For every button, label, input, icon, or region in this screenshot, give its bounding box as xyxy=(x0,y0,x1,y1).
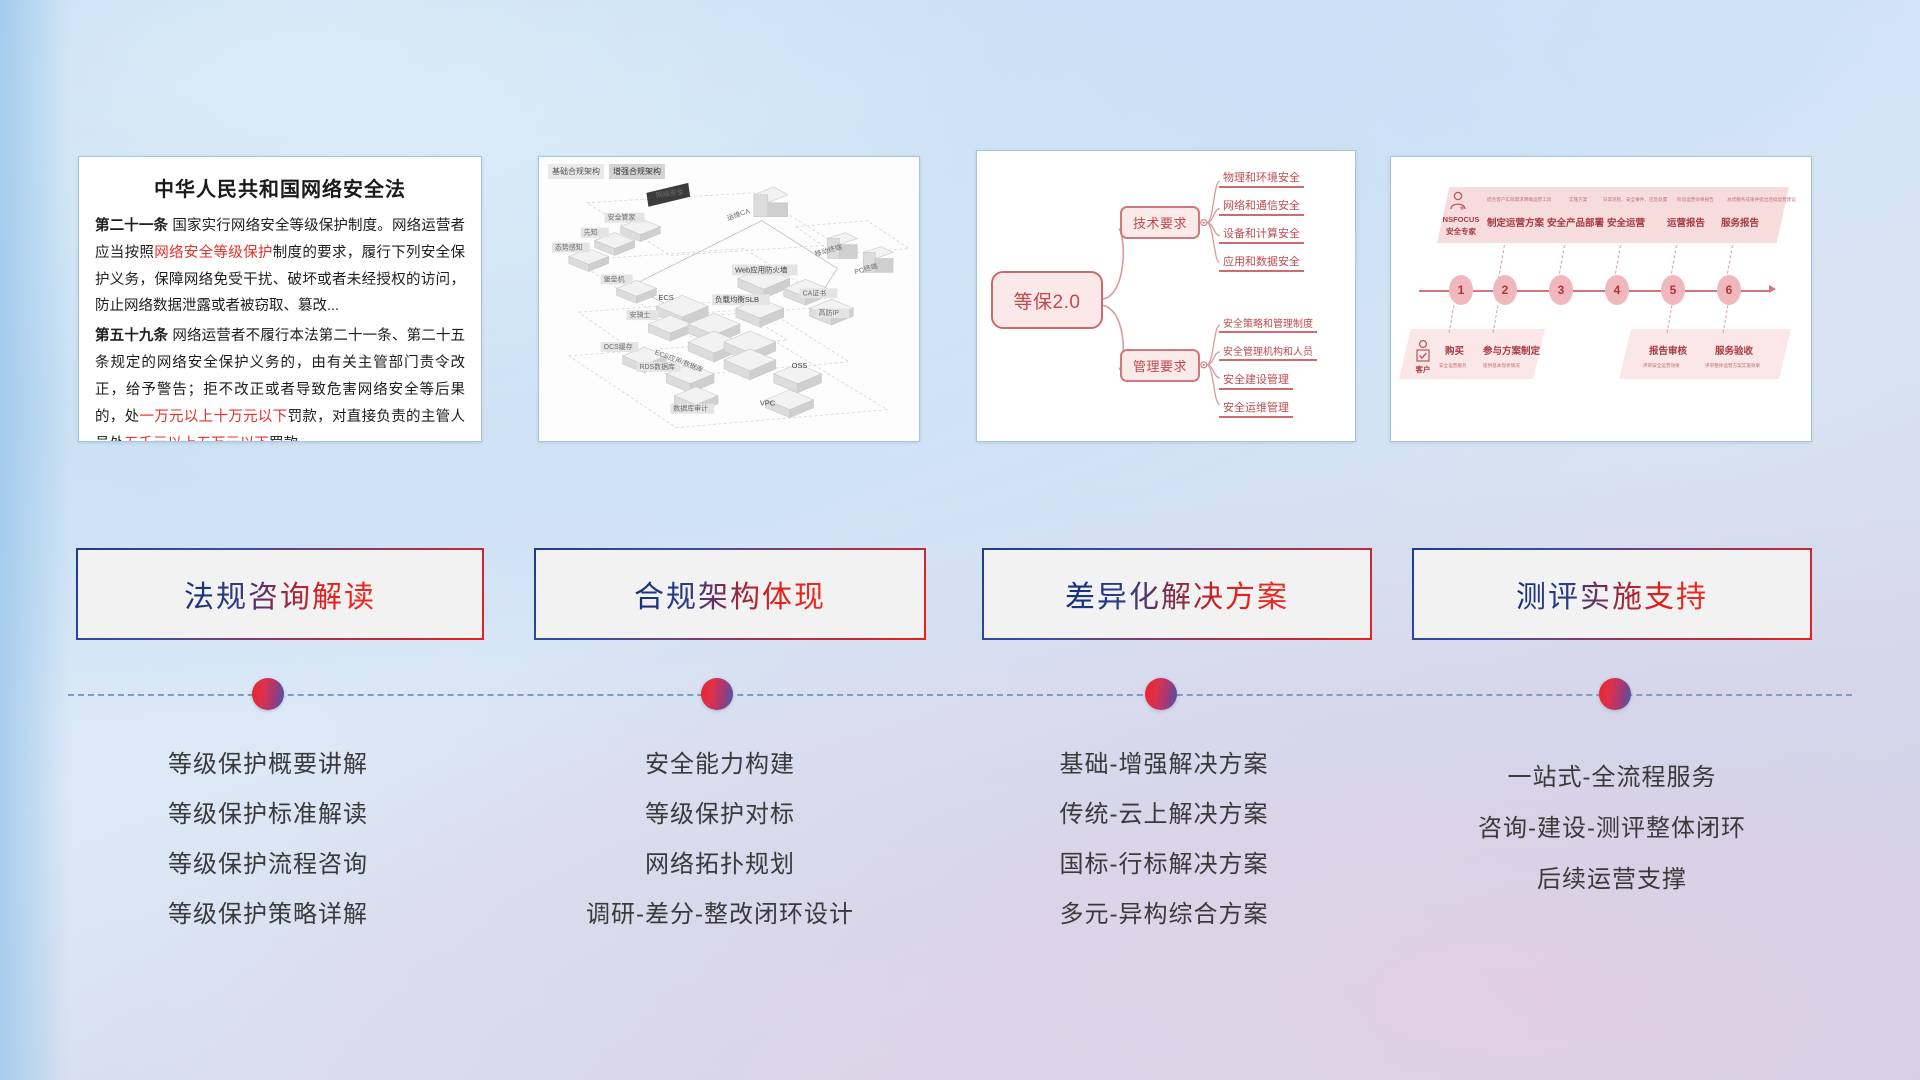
card-law-document[interactable]: 中华人民共和国网络安全法 第二十一条 国家实行网络安全等级保护制度。网络运营者应… xyxy=(78,156,482,442)
bullet-list-2: 安全能力构建 等级保护对标 网络拓扑规划 调研-差分-整改闭环设计 xyxy=(518,740,922,940)
timeline-dot-3[interactable] xyxy=(1145,678,1177,710)
customer-label: 客户 xyxy=(1407,365,1439,374)
architecture-topology-svg: 网络安全 态势感知 先知 安全管家 堡垒机 ECS 安骑士 OCS缓存 ECS应… xyxy=(539,157,919,442)
step-1-bottom-sub: 安全运营服务 xyxy=(1439,363,1467,369)
mindmap-diagram: 等保2.0 技术要求 管理要求 物理和环境安全 网络和通信安全 设备和计算安全 … xyxy=(977,151,1355,441)
law-title: 中华人民共和国网络安全法 xyxy=(95,173,465,202)
step-2-top-label: 制定运营方案 xyxy=(1487,215,1544,229)
step-2-top-sub: 结合客户实际需求明确运营工具 xyxy=(1487,197,1551,203)
step-6-bottom-label: 服务验收 xyxy=(1715,343,1753,357)
mindmap-leaf-org-personnel[interactable]: 安全管理机构和人员 xyxy=(1219,343,1317,361)
section-title-inner-2: 合规架构体现 xyxy=(536,550,924,638)
step-2-bottom-label: 参与方案制定 xyxy=(1483,343,1540,357)
list-item: 后续运营支撑 xyxy=(1400,854,1824,905)
section-title-box-1[interactable]: 法规咨询解读 xyxy=(76,548,484,640)
section-title-inner-1: 法规咨询解读 xyxy=(78,550,482,638)
step-5-bottom-label: 报告审核 xyxy=(1649,343,1687,357)
step-5-top-label: 运营报告 xyxy=(1667,215,1705,229)
section-title-box-3[interactable]: 差异化解决方案 xyxy=(982,548,1372,640)
step-2-bottom-sub: 提供基本现状情况 xyxy=(1483,363,1520,369)
step-6-top-label: 服务报告 xyxy=(1721,215,1759,229)
mindmap-leaf-physical-env[interactable]: 物理和环境安全 xyxy=(1219,169,1304,188)
step-4-top-sub: 日常巡检、安全事件、应急处置 xyxy=(1603,197,1667,203)
mindmap-leaf-device-compute[interactable]: 设备和计算安全 xyxy=(1219,225,1304,244)
law-article-21-highlight: 网络安全等级保护 xyxy=(154,245,273,261)
list-item: 等级保护概要讲解 xyxy=(66,740,470,790)
svg-text:数据库审计: 数据库审计 xyxy=(673,404,708,413)
step-1-bottom-label: 购买 xyxy=(1445,343,1464,357)
law-article-59-text-c: 罚款。 xyxy=(269,436,313,443)
timeline-dot-4[interactable] xyxy=(1599,678,1631,710)
connector-step-6-top xyxy=(1726,245,1733,279)
step-6-marker[interactable]: 6 xyxy=(1717,275,1741,305)
svg-text:VPC: VPC xyxy=(760,399,776,408)
law-document-body: 中华人民共和国网络安全法 第二十一条 国家实行网络安全等级保护制度。网络运营者应… xyxy=(79,157,481,442)
svg-text:先知: 先知 xyxy=(584,228,598,237)
svg-text:负载均衡SLB: 负载均衡SLB xyxy=(715,294,759,304)
step-4-marker[interactable]: 4 xyxy=(1605,275,1629,305)
section-title-text-2: 合规架构体现 xyxy=(634,572,826,616)
customer-person-icon xyxy=(1413,339,1433,365)
card-dengbao-mindmap[interactable]: 等保2.0 技术要求 管理要求 物理和环境安全 网络和通信安全 设备和计算安全 … xyxy=(976,150,1356,442)
architecture-diagram: 基础合规架构 增强合规架构 xyxy=(539,157,919,441)
step-5-bottom-sub: 评审安全运营效果 xyxy=(1643,363,1680,369)
step-5-top-sub: 阶段运营效果报告 xyxy=(1677,197,1714,203)
step-4-top-label: 安全运营 xyxy=(1607,215,1645,229)
section-title-text-1: 法规咨询解读 xyxy=(184,572,376,616)
step-3-marker[interactable]: 3 xyxy=(1549,275,1573,305)
svg-text:运维CA: 运维CA xyxy=(726,206,752,223)
svg-text:OSS: OSS xyxy=(792,361,808,370)
list-item: 等级保护策略详解 xyxy=(66,890,470,940)
svg-text:OCS缓存: OCS缓存 xyxy=(604,342,633,351)
mindmap-leaf-ops-mgmt[interactable]: 安全运维管理 xyxy=(1219,399,1293,418)
mindmap-leaf-build-mgmt[interactable]: 安全建设管理 xyxy=(1219,371,1293,390)
svg-text:Web应用防火墙: Web应用防火墙 xyxy=(735,264,788,274)
list-item: 基础-增强解决方案 xyxy=(962,740,1366,790)
list-item: 等级保护流程咨询 xyxy=(66,840,470,890)
list-item: 调研-差分-整改闭环设计 xyxy=(518,890,922,940)
svg-text:安骑士: 安骑士 xyxy=(630,310,651,319)
section-title-text-4: 测评实施支持 xyxy=(1516,572,1708,616)
timeline-dot-2[interactable] xyxy=(701,678,733,710)
list-item: 等级保护对标 xyxy=(518,790,922,840)
step-6-bottom-sub: 评审整体运营方案实施效果 xyxy=(1705,363,1760,369)
mindmap-leaf-network-comm[interactable]: 网络和通信安全 xyxy=(1219,197,1304,216)
mindmap-branch-technical[interactable]: 技术要求 xyxy=(1120,206,1200,239)
mindmap-leaf-app-data[interactable]: 应用和数据安全 xyxy=(1219,253,1304,272)
mindmap-root-node[interactable]: 等保2.0 xyxy=(991,271,1103,329)
bullet-list-1: 等级保护概要讲解 等级保护标准解读 等级保护流程咨询 等级保护策略详解 xyxy=(66,740,470,940)
list-item: 国标-行标解决方案 xyxy=(962,840,1366,890)
law-article-21-label: 第二十一条 xyxy=(95,218,168,234)
bullet-list-3: 基础-增强解决方案 传统-云上解决方案 国标-行标解决方案 多元-异构综合方案 xyxy=(962,740,1366,940)
law-article-21: 第二十一条 国家实行网络安全等级保护制度。网络运营者应当按照网络安全等级保护制度… xyxy=(95,213,465,320)
connector-step-1-bottom xyxy=(1449,305,1455,333)
expert-person-icon xyxy=(1447,191,1469,213)
timeline-dot-1[interactable] xyxy=(252,678,284,710)
step-6-top-sub: 总结服务成果并提出后续运营建议 xyxy=(1727,197,1796,203)
law-article-59: 第五十九条 网络运营者不履行本法第二十一条、第二十五条规定的网络安全保护义务的，… xyxy=(95,323,465,442)
service-flow-customer-band-right xyxy=(1619,329,1791,379)
section-title-inner-3: 差异化解决方案 xyxy=(984,550,1370,638)
connector-step-5-top xyxy=(1670,245,1677,279)
list-item: 等级保护标准解读 xyxy=(66,790,470,840)
step-3-top-sub: 实施方案 xyxy=(1569,197,1587,203)
list-item: 传统-云上解决方案 xyxy=(962,790,1366,840)
service-flow-diagram: NSFOCUS 安全专家 结合客户实际需求明确运营工具 实施方案 日常巡检、安全… xyxy=(1391,157,1811,441)
list-item: 安全能力构建 xyxy=(518,740,922,790)
bullet-list-4: 一站式-全流程服务 咨询-建设-测评整体闭环 后续运营支撑 xyxy=(1400,752,1824,905)
list-item: 一站式-全流程服务 xyxy=(1400,752,1824,803)
connector-step-6-bottom xyxy=(1723,305,1729,333)
law-article-59-highlight-1: 一万元以上十万元以下 xyxy=(139,409,287,425)
section-title-inner-4: 测评实施支持 xyxy=(1414,550,1810,638)
step-1-marker[interactable]: 1 xyxy=(1449,275,1473,305)
card-service-flow[interactable]: NSFOCUS 安全专家 结合客户实际需求明确运营工具 实施方案 日常巡检、安全… xyxy=(1390,156,1812,442)
list-item: 网络拓扑规划 xyxy=(518,840,922,890)
law-article-59-label: 第五十九条 xyxy=(95,328,168,344)
step-3-top-label: 安全产品部署 xyxy=(1547,215,1604,229)
card-cloud-architecture[interactable]: 基础合规架构 增强合规架构 xyxy=(538,156,920,442)
connector-step-3-top xyxy=(1558,245,1565,279)
mindmap-branch-management[interactable]: 管理要求 xyxy=(1120,349,1200,382)
connector-step-2-top xyxy=(1498,245,1505,279)
svg-text:态势感知: 态势感知 xyxy=(555,243,583,252)
svg-text:高防IP: 高防IP xyxy=(819,308,840,317)
timeline-arrow-icon xyxy=(1769,285,1776,293)
connector-step-4-top xyxy=(1614,245,1621,279)
svg-text:RDS数据库: RDS数据库 xyxy=(639,362,675,371)
step-5-marker[interactable]: 5 xyxy=(1661,275,1685,305)
connector-step-5-bottom xyxy=(1667,305,1673,333)
brand-name: NSFOCUS xyxy=(1435,215,1487,224)
svg-text:ECS: ECS xyxy=(658,293,673,302)
svg-text:安全管家: 安全管家 xyxy=(608,213,636,222)
step-2-marker[interactable]: 2 xyxy=(1493,275,1517,305)
list-item: 咨询-建设-测评整体闭环 xyxy=(1400,803,1824,854)
connector-step-2-bottom xyxy=(1493,305,1499,333)
svg-text:堡垒机: 堡垒机 xyxy=(604,274,625,283)
section-title-text-3: 差异化解决方案 xyxy=(1065,572,1289,616)
timeline-dashed-line xyxy=(68,694,1852,696)
mindmap-leaf-policy-system[interactable]: 安全策略和管理制度 xyxy=(1219,315,1317,333)
svg-text:CA证书: CA证书 xyxy=(803,288,827,297)
section-title-box-4[interactable]: 测评实施支持 xyxy=(1412,548,1812,640)
brand-subtitle: 安全专家 xyxy=(1435,227,1487,236)
law-article-59-highlight-2: 五千元以上五万元以下 xyxy=(124,436,269,443)
list-item: 多元-异构综合方案 xyxy=(962,890,1366,940)
section-title-box-2[interactable]: 合规架构体现 xyxy=(534,548,926,640)
